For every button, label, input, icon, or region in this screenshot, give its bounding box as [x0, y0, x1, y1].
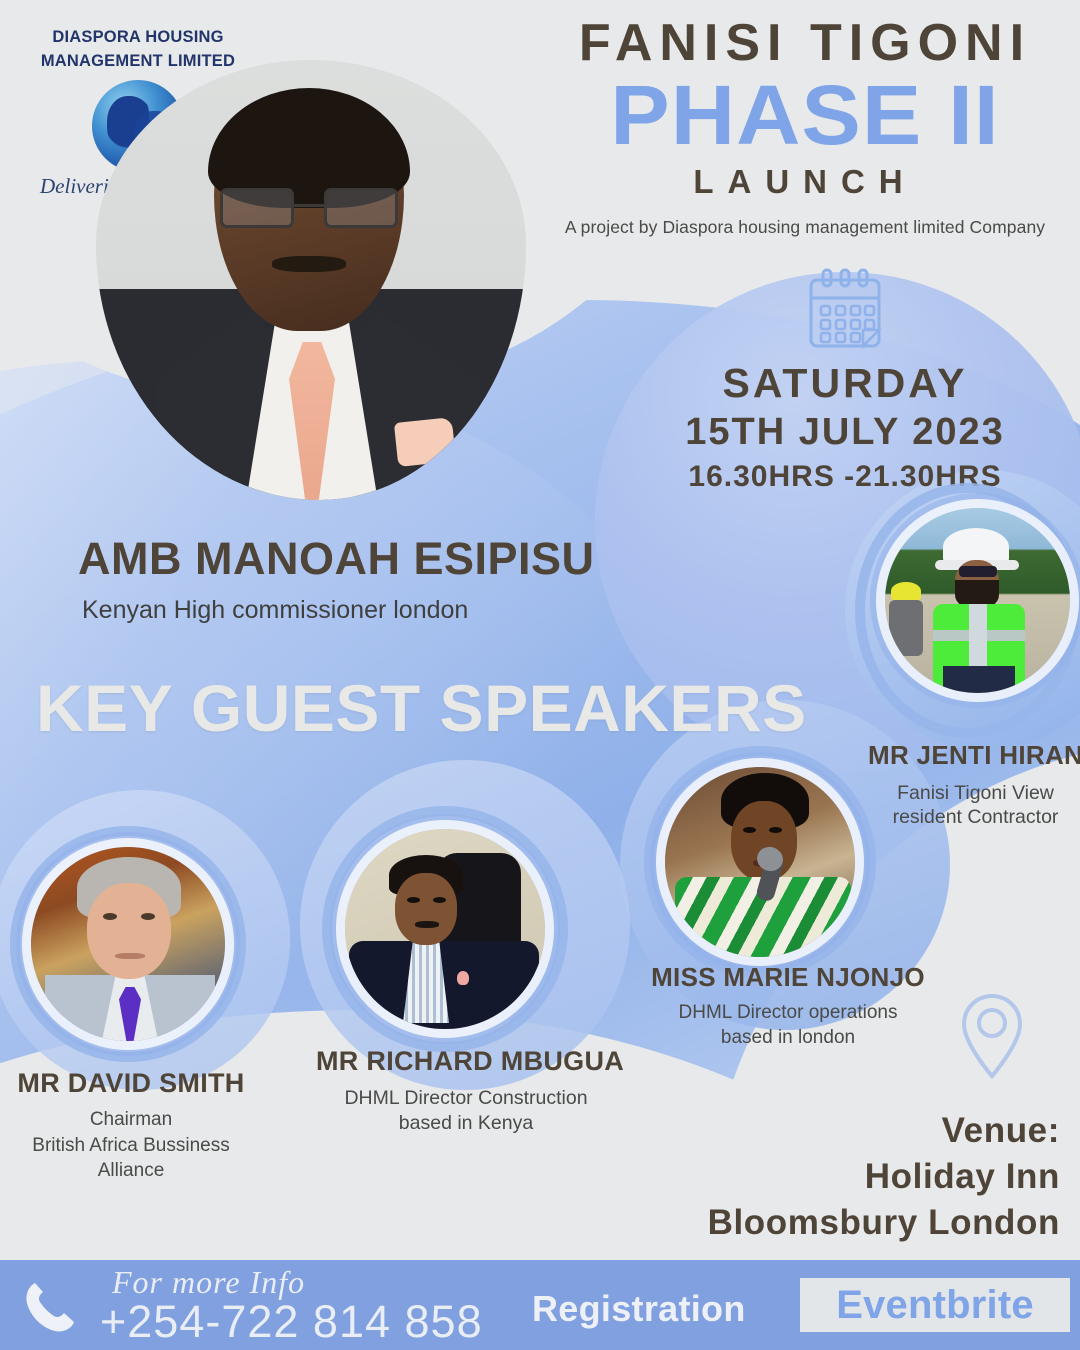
phone-icon	[22, 1280, 76, 1334]
event-poster: DIASPORA HOUSING MANAGEMENT LIMITED Deli…	[0, 0, 1080, 1350]
david-role-line-2: British Africa Bussiness	[6, 1133, 256, 1159]
richard-mbugua-photo	[345, 829, 545, 1029]
jenti-hirani-photo	[885, 508, 1070, 693]
marie-njonjo-photo	[665, 767, 855, 957]
richard-name: MR RICHARD MBUGUA	[316, 1046, 616, 1077]
richard-role-line-1: DHML Director Construction	[316, 1086, 616, 1111]
david-role: Chairman British Africa Bussiness Allian…	[6, 1107, 256, 1184]
amb-manoah-esipisu-photo	[96, 60, 526, 500]
richard-role: DHML Director Construction based in Keny…	[316, 1086, 616, 1137]
david-smith-photo	[31, 847, 225, 1041]
event-date-block: SATURDAY 15TH JULY 2023 16.30HRS -21.30H…	[600, 268, 1080, 494]
event-title: FANISI TIGONI	[545, 16, 1065, 71]
event-subtitle: A project by Diaspora housing management…	[545, 217, 1065, 238]
marie-name: MISS MARIE NJONJO	[628, 962, 948, 993]
eventbrite-label: Eventbrite	[836, 1283, 1034, 1328]
venue-label: Venue:	[600, 1108, 1060, 1154]
hero-photo-image	[96, 60, 526, 500]
jenti-role: Fanisi Tigoni View resident Contractor	[868, 781, 1080, 830]
main-speaker-name: AMB MANOAH ESIPISU	[78, 533, 595, 585]
section-heading: KEY GUEST SPEAKERS	[36, 670, 807, 746]
jenti-name: MR JENTI HIRANI	[868, 740, 1080, 771]
marie-caption: MISS MARIE NJONJO DHML Director operatio…	[628, 962, 948, 1050]
event-time: 16.30HRS -21.30HRS	[600, 460, 1080, 494]
david-caption: MR DAVID SMITH Chairman British Africa B…	[6, 1068, 256, 1184]
event-launch-word: LAUNCH	[545, 163, 1065, 201]
david-role-line-3: Alliance	[6, 1158, 256, 1184]
logo-line-1: DIASPORA HOUSING	[18, 26, 258, 50]
david-role-line-1: Chairman	[6, 1107, 256, 1133]
richard-caption: MR RICHARD MBUGUA DHML Director Construc…	[316, 1046, 616, 1137]
main-speaker-role: Kenyan High commissioner london	[82, 596, 468, 625]
event-phase: PHASE II	[529, 73, 1080, 157]
david-name: MR DAVID SMITH	[6, 1068, 256, 1099]
jenti-caption: MR JENTI HIRANI Fanisi Tigoni View resid…	[868, 740, 1080, 830]
marie-role: DHML Director operations based in london	[628, 1001, 948, 1050]
poster-headline: FANISI TIGONI PHASE II LAUNCH A project …	[545, 16, 1065, 238]
poster-footer: For more Info +254-722 814 858 Registrat…	[0, 1260, 1080, 1350]
richard-role-line-2: based in Kenya	[316, 1111, 616, 1136]
phone-number[interactable]: +254-722 814 858	[100, 1296, 483, 1348]
registration-label: Registration	[532, 1288, 746, 1330]
venue-line-2: Bloomsbury London	[600, 1200, 1060, 1246]
location-pin-icon	[958, 992, 1026, 1080]
calendar-icon	[805, 268, 885, 354]
marie-role-line-1: DHML Director operations	[628, 1001, 948, 1026]
event-date: 15TH JULY 2023	[600, 411, 1080, 454]
jenti-role-line-2: resident Contractor	[868, 805, 1080, 829]
marie-role-line-2: based in london	[628, 1026, 948, 1051]
eventbrite-button[interactable]: Eventbrite	[800, 1278, 1070, 1332]
jenti-role-line-1: Fanisi Tigoni View	[868, 781, 1080, 805]
venue-block: Venue: Holiday Inn Bloomsbury London	[600, 1108, 1070, 1247]
event-day: SATURDAY	[600, 360, 1080, 407]
venue-line-1: Holiday Inn	[600, 1154, 1060, 1200]
